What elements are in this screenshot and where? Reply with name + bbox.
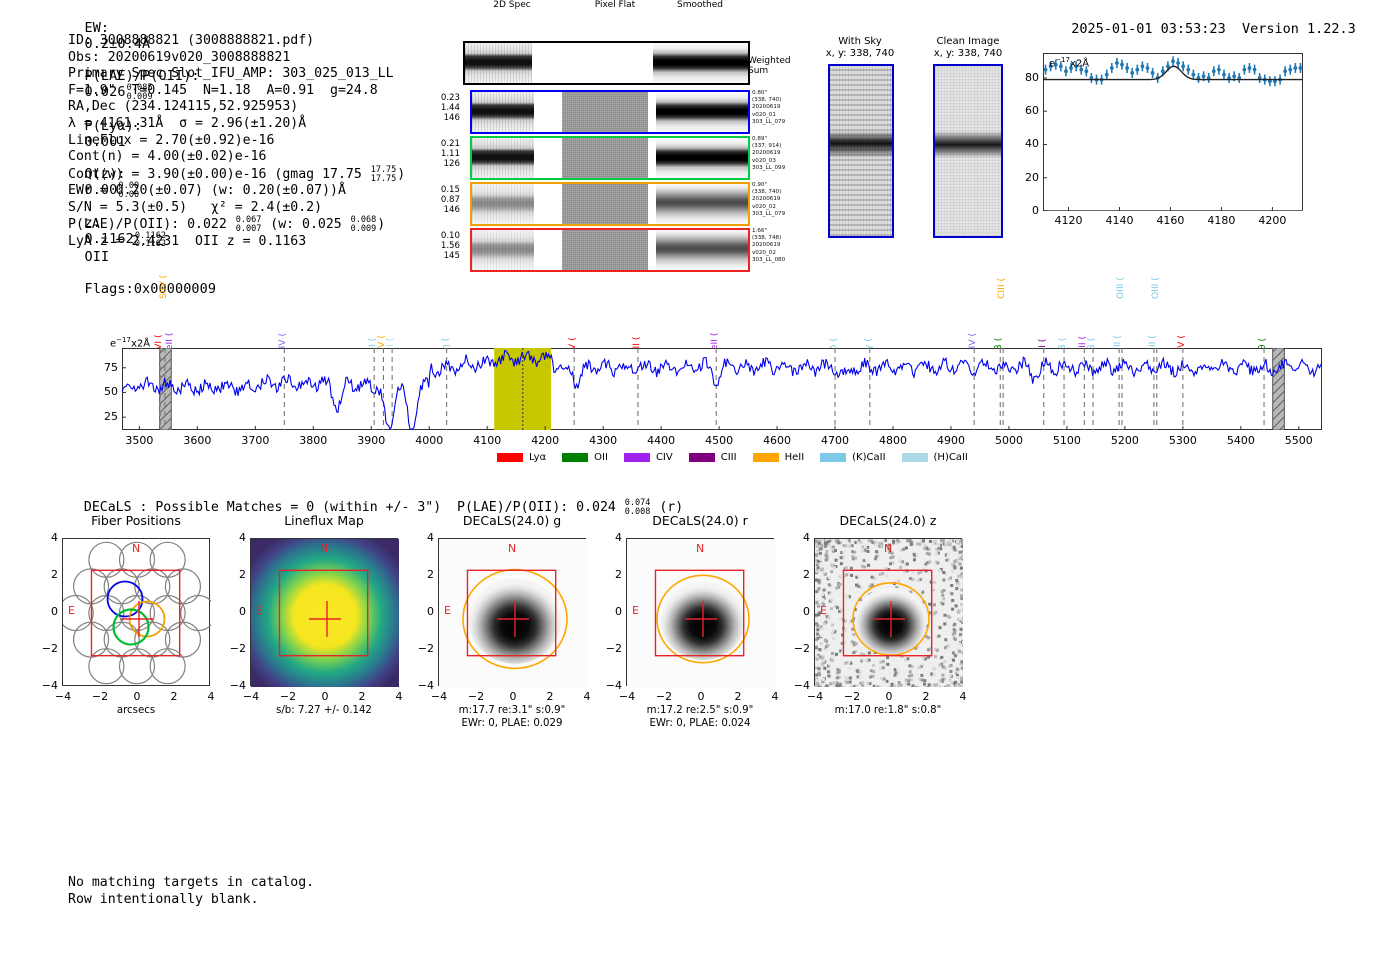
fiber-row-1 (470, 90, 750, 134)
axis-tick-label: 3700 (241, 434, 269, 447)
param-obs: Obs: 20200619v020_3008888821 (68, 50, 405, 67)
clean-image-trace (935, 131, 1001, 158)
legend-swatch (753, 453, 779, 462)
axis-tick-label: 4900 (937, 434, 965, 447)
axis-tick-label: 2 (24, 568, 58, 581)
axis-tick-label: 4200 (531, 434, 559, 447)
axis-tick-label: 3600 (183, 434, 211, 447)
axis-tick-label: −2 (776, 642, 810, 655)
col-title-smoothed: Smoothed (655, 0, 745, 10)
axis-tick-label: 4120 (1054, 214, 1082, 227)
cutout-image (251, 539, 399, 687)
emission-line-id-labels: SIIV (OVI (HeII (SIIV (OII (CIV (OII (Hη… (0, 260, 1400, 348)
axis-tick-label: 4200 (1258, 214, 1286, 227)
full-spectrum-plot (122, 348, 1322, 430)
axis-tick-label: −2 (280, 690, 296, 703)
fiber-3-smoothed (656, 184, 748, 224)
cutout-image (63, 539, 211, 687)
footer-line-2: Row intentionally blank. (68, 891, 314, 908)
axis-tick-label: −4 (400, 679, 434, 692)
axis-tick-label: 4160 (1156, 214, 1184, 227)
fiber-3-meta: 0.90" (338, 740) 20200619 v020_02 303_LL… (752, 182, 785, 218)
object-parameter-block: ID: 3008888821 (3008888821.pdf) Obs: 202… (68, 33, 405, 251)
axis-tick-label: −4 (212, 679, 246, 692)
zoom-spectrum-plot (1043, 53, 1303, 211)
param-continuum-narrow: Cont(n) = 4.00(±0.02)e-16 (68, 149, 405, 166)
cutout-caption: m:17.2 re:2.5" s:0.9" (626, 705, 774, 718)
axis-tick-label: 4700 (821, 434, 849, 447)
cont-w-close: ) (397, 167, 405, 182)
axis-tick-label: −2 (400, 642, 434, 655)
axis-tick-label: 5400 (1227, 434, 1255, 447)
cutout-caption: m:17.0 re:1.8" s:0.8" (814, 705, 962, 718)
axis-tick-label: −2 (656, 690, 672, 703)
axis-tick-label: 2 (212, 568, 246, 581)
fiber-3-flux: 0.87 (424, 195, 460, 205)
fiber-3-metrics: 0.15 0.87 146 (424, 185, 460, 216)
gmag-lo: 17.75 (371, 174, 397, 184)
axis-tick-label: 5000 (995, 434, 1023, 447)
legend-item: HeII (753, 452, 805, 463)
axis-tick-label: 4140 (1105, 214, 1133, 227)
compass-east-label: E (820, 604, 827, 617)
axis-tick-label: 4 (24, 531, 58, 544)
with-sky-subtitle: x, y: 338, 740 (815, 48, 905, 60)
axis-tick-label: −2 (468, 690, 484, 703)
cutout-caption-secondary: EWr: 0, PLAE: 0.024 (626, 718, 774, 731)
param-lambda-sigma: λ = 4161.31Å σ = 2.96(±1.20)Å (68, 116, 405, 133)
fiber-2-weight: 0.21 (424, 139, 460, 149)
axis-tick-label: 3800 (299, 434, 327, 447)
legend-swatch (497, 453, 523, 462)
fiber-4-flux: 1.56 (424, 241, 460, 251)
axis-tick-label: 4 (588, 531, 622, 544)
axis-tick-label: 5100 (1053, 434, 1081, 447)
col-title-2d-spec: 2D Spec (462, 0, 562, 10)
legend-label: HeII (785, 452, 805, 463)
cutout-panel-title: DECaLS(24.0) z (814, 513, 962, 528)
fiber-3-weight: 0.15 (424, 185, 460, 195)
cutout-caption-secondary: EWr: 0, PLAE: 0.029 (438, 718, 586, 731)
axis-tick-label: 2 (588, 568, 622, 581)
axis-tick-label: 3500 (125, 434, 153, 447)
with-sky-image (828, 64, 894, 238)
axis-tick-label: 4 (960, 690, 967, 703)
cutout-panel-title: Lineflux Map (250, 513, 398, 528)
legend-item: CIII (689, 452, 737, 463)
version: Version 1.22.3 (1242, 21, 1356, 37)
axis-tick-label: 4100 (473, 434, 501, 447)
line-id-label: SIIV ( (158, 275, 169, 299)
fiber-3-gap2 (648, 184, 656, 224)
legend-swatch (902, 453, 928, 462)
param-plae-poii: P(LAE)/P(OII): 0.022 0.0670.007 (w: 0.02… (68, 216, 405, 234)
weighted-sum-gap2 (645, 43, 653, 83)
header-timestamp-version: 2025-01-01 03:53:23 Version 1.22.3 (1055, 5, 1356, 37)
axis-tick-label: −2 (92, 690, 108, 703)
axis-tick-label: −2 (588, 642, 622, 655)
fiber-1-flux: 1.44 (424, 103, 460, 113)
fiber-4-weight: 0.10 (424, 231, 460, 241)
footer-note: No matching targets in catalog. Row inte… (68, 874, 314, 908)
fiber-row-2 (470, 136, 750, 180)
axis-tick-label: 4500 (705, 434, 733, 447)
axis-tick-label: 50 (84, 385, 118, 398)
axis-tick-label: 2 (735, 690, 742, 703)
cutout-caption: s/b: 7.27 +/- 0.142 (250, 705, 398, 718)
weighted-sum-2d (465, 43, 532, 83)
axis-tick-label: 4400 (647, 434, 675, 447)
axis-tick-label: 4 (212, 531, 246, 544)
fiber-1-gap2 (648, 92, 656, 132)
axis-tick-label: 25 (84, 410, 118, 423)
legend-swatch (820, 453, 846, 462)
axis-tick-label: 4000 (415, 434, 443, 447)
fiber-2-count: 126 (424, 159, 460, 169)
plae-close: ) (377, 217, 385, 232)
legend-label: OII (594, 452, 608, 463)
axis-tick-label: 0 (698, 690, 705, 703)
with-sky-trace (830, 131, 892, 158)
axis-tick-label: 0 (886, 690, 893, 703)
fiber-1-pixel-flat (562, 92, 648, 132)
fiber-4-meta: 1.66" (338, 748) 20200619 v020_02 303_LL… (752, 228, 785, 264)
timestamp: 2025-01-01 03:53:23 (1071, 21, 1225, 37)
fiber-2-flux: 1.11 (424, 149, 460, 159)
fiber-3-2d (472, 184, 534, 224)
cutout-image (627, 539, 775, 687)
compass-east-label: E (444, 604, 451, 617)
axis-tick-label: 2 (171, 690, 178, 703)
plae-pre: P(LAE)/P(OII): 0.022 (68, 217, 235, 232)
param-snr-chi2: S/N = 5.3(±0.5) χ² = 2.4(±0.2) (68, 200, 405, 217)
axis-tick-label: 2 (400, 568, 434, 581)
param-radec: RA,Dec (234.124115,52.925953) (68, 99, 405, 116)
axis-tick-label: −4 (776, 679, 810, 692)
axis-tick-label: 2 (359, 690, 366, 703)
legend-swatch (562, 453, 588, 462)
legend-label: CIII (721, 452, 737, 463)
cutout-caption: arcsecs (62, 705, 210, 718)
plae-w-lo: 0.009 (351, 224, 377, 234)
zoom-flux-unit-annotation: e−17x2Å (1049, 56, 1089, 69)
fiber-2-pixel-flat (562, 138, 648, 178)
fiber-2-smoothed (656, 138, 748, 178)
footer-line-1: No matching targets in catalog. (68, 874, 314, 891)
compass-north-label: N (132, 542, 140, 555)
weighted-sum-flat-blank (572, 43, 645, 83)
axis-tick-label: 5500 (1285, 434, 1313, 447)
axis-tick-label: 4 (776, 531, 810, 544)
clean-image-subtitle: x, y: 338, 740 (918, 48, 1018, 60)
axis-tick-label: 75 (84, 361, 118, 374)
cont-w-text: Cont(w) = 3.90(±0.00)e-16 (gmag 17.75 (68, 167, 370, 182)
axis-tick-label: 5200 (1111, 434, 1139, 447)
axis-tick-label: −2 (24, 642, 58, 655)
cutout-image (439, 539, 587, 687)
fiber-4-metrics: 0.10 1.56 145 (424, 231, 460, 262)
compass-north-label: N (696, 542, 704, 555)
axis-tick-label: 0 (776, 605, 810, 618)
fiber-3-count: 146 (424, 205, 460, 215)
fiber-3-pixel-flat (562, 184, 648, 224)
fiber-1-smoothed (656, 92, 748, 132)
with-sky-pixels (830, 66, 892, 236)
axis-tick-label: 0 (1005, 204, 1039, 217)
axis-tick-label: 0 (400, 605, 434, 618)
axis-tick-label: 4300 (589, 434, 617, 447)
full-spectrum-flux-unit-annotation: e−17x2Å (110, 336, 150, 349)
with-sky-title: With Sky (815, 36, 905, 48)
weighted-sum-smoothed (653, 43, 748, 83)
compass-east-label: E (256, 604, 263, 617)
cutout-panel-title: Fiber Positions (62, 513, 210, 528)
legend-item: (H)CaII (902, 452, 968, 463)
param-ewr: EWr = 0.20(±0.07) (w: 0.20(±0.07))Å (68, 183, 405, 200)
cutout-panel-title: DECaLS(24.0) g (438, 513, 586, 528)
clean-image-pixels (935, 66, 1001, 236)
axis-tick-label: −2 (844, 690, 860, 703)
axis-tick-label: 2 (776, 568, 810, 581)
compass-east-label: E (68, 604, 75, 617)
axis-tick-label: 40 (1005, 137, 1039, 150)
decals-cutout-row: Fiber PositionsNE−4−2024420−2−4arcsecsLi… (0, 505, 1400, 725)
clean-image-title: Clean Image (918, 36, 1018, 48)
legend-item: OII (562, 452, 608, 463)
fiber-1-gap (534, 92, 562, 132)
axis-tick-label: 3900 (357, 434, 385, 447)
legend-swatch (689, 453, 715, 462)
axis-tick-label: 0 (510, 690, 517, 703)
fiber-1-weight: 0.23 (424, 93, 460, 103)
fiber-2-gap2 (648, 138, 656, 178)
axis-tick-label: 0 (134, 690, 141, 703)
line-id-label: CIII ( (996, 278, 1007, 299)
weighted-sum-panel (463, 41, 750, 85)
axis-tick-label: 4180 (1207, 214, 1235, 227)
axis-tick-label: 2 (547, 690, 554, 703)
axis-tick-label: 2 (923, 690, 930, 703)
fiber-1-count: 146 (424, 113, 460, 123)
compass-east-label: E (632, 604, 639, 617)
fiber-2-gap (534, 138, 562, 178)
fiber-1-meta: 0.80" (338, 740) 20200619 v020_01 303_LL… (752, 90, 785, 126)
weighted-sum-label: Weighted Sum (748, 56, 791, 76)
axis-tick-label: 0 (322, 690, 329, 703)
line-id-label: OIII ( (1150, 277, 1161, 299)
cutout-image (815, 539, 963, 687)
axis-tick-label: −4 (588, 679, 622, 692)
plae-mid: (w: 0.025 (262, 217, 349, 232)
cutout-panel-title: DECaLS(24.0) r (626, 513, 774, 528)
axis-tick-label: 80 (1005, 71, 1039, 84)
fiber-row-3 (470, 182, 750, 226)
param-lineflux: LineFlux = 2.70(±0.92)e-16 (68, 133, 405, 150)
legend-swatch (624, 453, 650, 462)
plae-n-lo: 0.007 (236, 224, 262, 234)
compass-north-label: N (884, 542, 892, 555)
param-redshifts: LyA z = 2.4231 OII z = 0.1163 (68, 234, 405, 251)
legend-item: (K)CaII (820, 452, 885, 463)
param-id: ID: 3008888821 (3008888821.pdf) (68, 33, 405, 50)
fiber-2-2d (472, 138, 534, 178)
emission-line-legend: LyαOIICIVCIIIHeII(K)CaII(H)CaII (497, 452, 984, 463)
axis-tick-label: 5300 (1169, 434, 1197, 447)
clean-image-cutout (933, 64, 1003, 238)
axis-tick-label: −4 (24, 679, 58, 692)
axis-tick-label: 0 (212, 605, 246, 618)
fiber-1-2d (472, 92, 534, 132)
axis-tick-label: −2 (212, 642, 246, 655)
cutout-caption: m:17.7 re:3.1" s:0.9" (438, 705, 586, 718)
axis-tick-label: 20 (1005, 171, 1039, 184)
legend-label: (H)CaII (934, 452, 968, 463)
compass-north-label: N (508, 542, 516, 555)
line-id-label: OIII ( (1115, 277, 1126, 299)
compass-north-label: N (320, 542, 328, 555)
weighted-sum-gap (532, 43, 572, 83)
axis-tick-label: 60 (1005, 104, 1039, 117)
axis-tick-label: 4600 (763, 434, 791, 447)
fiber-1-metrics: 0.23 1.44 146 (424, 93, 460, 124)
axis-tick-label: 4800 (879, 434, 907, 447)
legend-label: (K)CaII (852, 452, 885, 463)
legend-item: Lyα (497, 452, 546, 463)
axis-tick-label: 4 (400, 531, 434, 544)
axis-tick-label: 0 (24, 605, 58, 618)
fiber-2-meta: 0.89" (337, 914) 20200619 v020_03 303_LL… (752, 136, 785, 172)
legend-label: Lyα (529, 452, 546, 463)
legend-label: CIV (656, 452, 673, 463)
col-title-pixel-flat: Pixel Flat (570, 0, 660, 10)
fiber-2-metrics: 0.21 1.11 126 (424, 139, 460, 170)
param-continuum-wide: Cont(w) = 3.90(±0.00)e-16 (gmag 17.75 17… (68, 166, 405, 184)
fiber-3-gap (534, 184, 562, 224)
legend-item: CIV (624, 452, 673, 463)
param-seeing: F=1.9" T=0.145 N=1.18 A=0.91 g=24.8 (68, 83, 405, 100)
param-primary-spec: Primary Spec_Slot_IFU_AMP: 303_025_013_L… (68, 66, 405, 83)
axis-tick-label: 0 (588, 605, 622, 618)
